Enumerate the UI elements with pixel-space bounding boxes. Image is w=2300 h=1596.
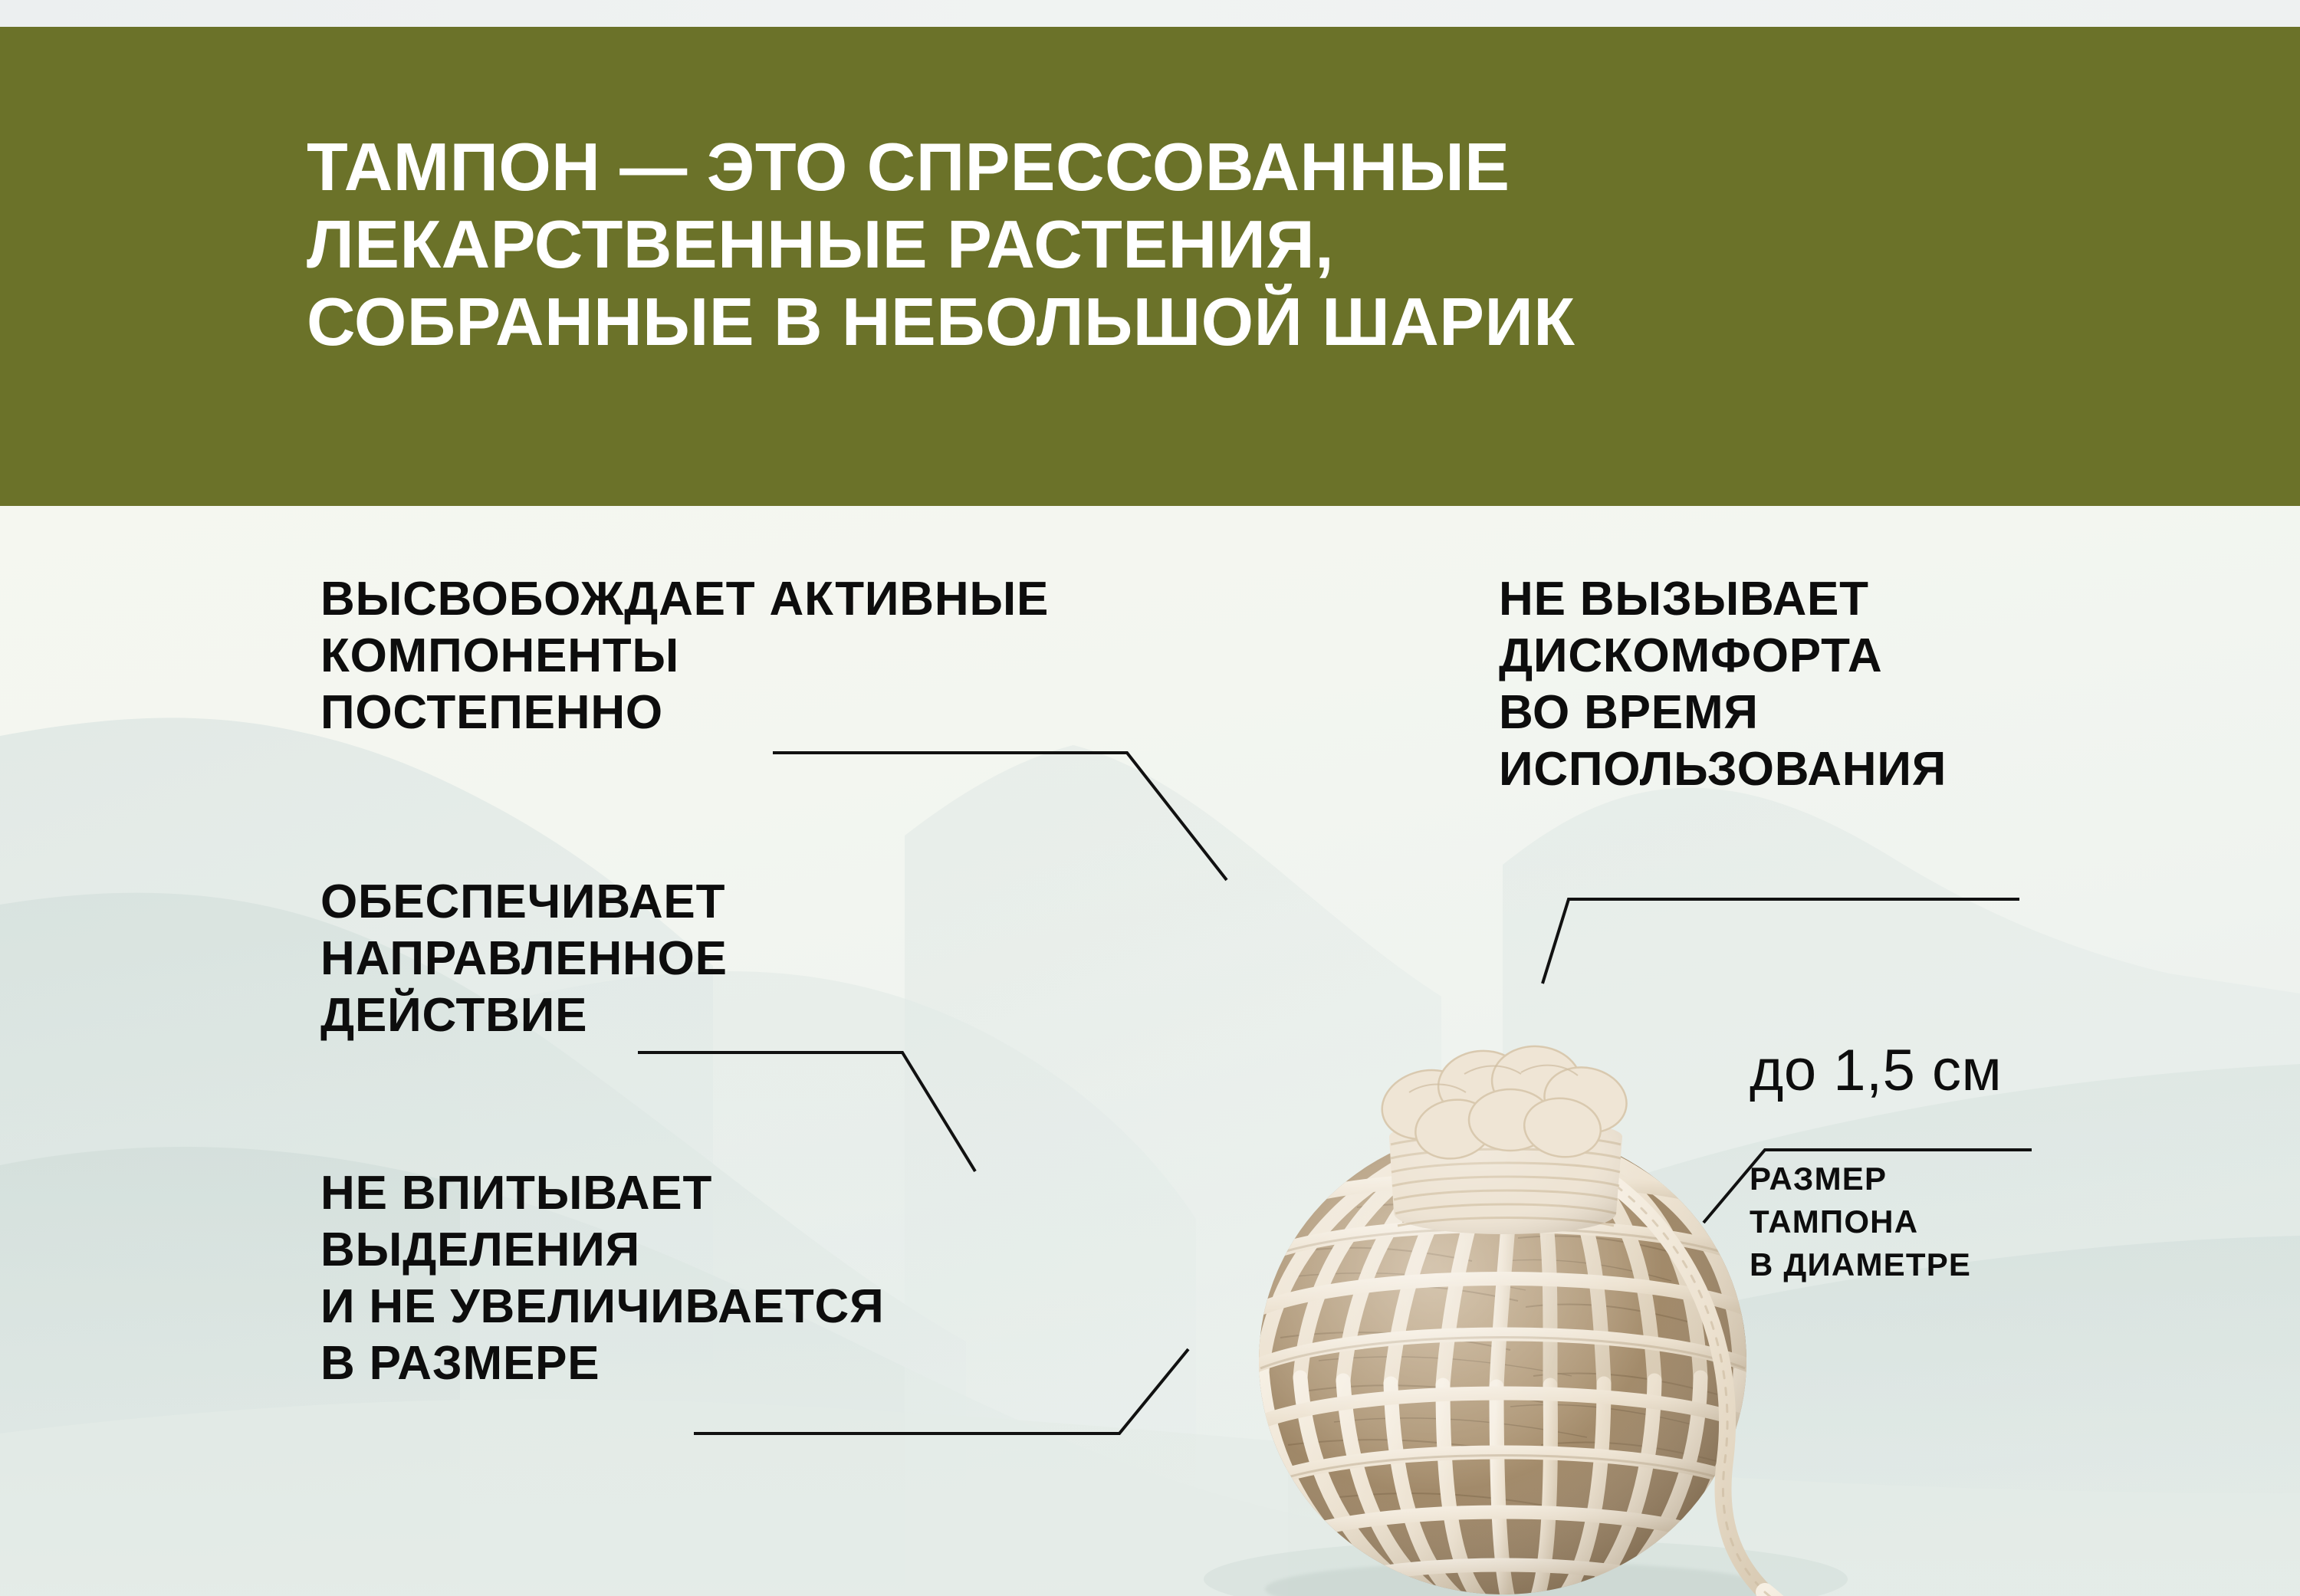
size-caption: РАЗМЕР ТАМПОНА В ДИАМЕТРЕ [1750, 1158, 1971, 1286]
title-line-2: ЛЕКАРСТВЕННЫЕ РАСТЕНИЯ, [307, 205, 2085, 283]
infographic-poster: ТАМПОН — ЭТО СПРЕССОВАННЫЕ ЛЕКАРСТВЕННЫЕ… [0, 0, 2300, 1596]
title-line-3: СОБРАННЫЕ В НЕБОЛЬШОЙ ШАРИК [307, 283, 2085, 360]
herbal-ball-illustration [1196, 931, 1840, 1596]
size-value: до 1,5 см [1750, 1039, 2002, 1103]
callout-releases-gradually: ВЫСВОБОЖДАЕТ АКТИВНЫЕ КОМПОНЕНТЫ ПОСТЕПЕ… [320, 571, 1049, 741]
header-band: ТАМПОН — ЭТО СПРЕССОВАННЫЕ ЛЕКАРСТВЕННЫЕ… [0, 27, 2300, 506]
title-line-1: ТАМПОН — ЭТО СПРЕССОВАННЫЕ [307, 128, 2085, 205]
callout-no-discomfort: НЕ ВЫЗЫВАЕТ ДИСКОМФОРТА ВО ВРЕМЯ ИСПОЛЬЗ… [1499, 571, 1947, 798]
product-image-herbal-ball [1196, 931, 1840, 1596]
callout-no-absorption: НЕ ВПИТЫВАЕТ ВЫДЕЛЕНИЯ И НЕ УВЕЛИЧИВАЕТС… [320, 1165, 884, 1392]
top-strip [0, 0, 2300, 27]
callout-targeted-action: ОБЕСПЕЧИВАЕТ НАПРАВЛЕННОЕ ДЕЙСТВИЕ [320, 874, 728, 1044]
page-title: ТАМПОН — ЭТО СПРЕССОВАННЫЕ ЛЕКАРСТВЕННЫЕ… [307, 128, 2085, 360]
